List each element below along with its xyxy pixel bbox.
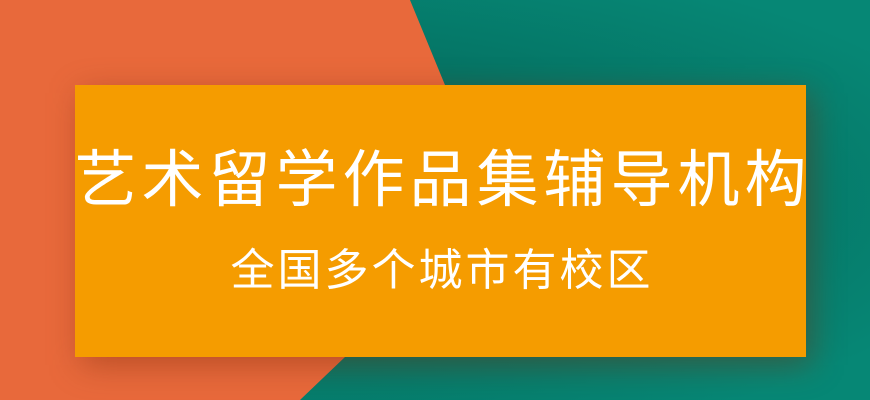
headline-card: 艺术留学作品集辅导机构 全国多个城市有校区 [75, 85, 806, 357]
page-subtitle: 全国多个城市有校区 [228, 249, 654, 293]
promo-banner: 艺术留学作品集辅导机构 全国多个城市有校区 [0, 0, 870, 400]
page-title: 艺术留学作品集辅导机构 [70, 149, 812, 211]
